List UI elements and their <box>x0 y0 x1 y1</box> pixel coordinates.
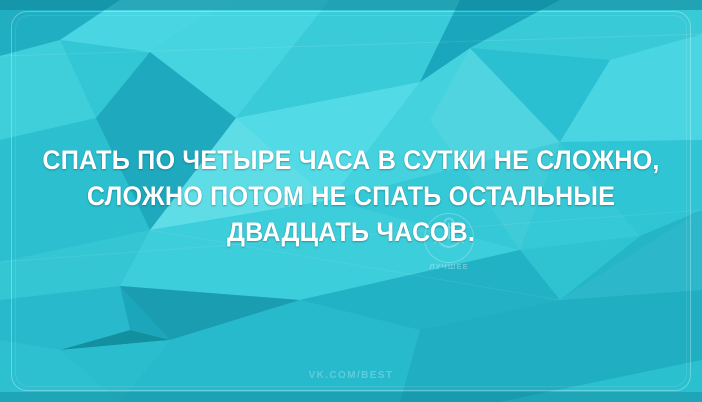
polygon-background <box>0 0 702 402</box>
quote-card: ЛУЧШЕЕ СПАТЬ ПО ЧЕТЫРЕ ЧАСА В СУТКИ НЕ С… <box>0 0 702 402</box>
